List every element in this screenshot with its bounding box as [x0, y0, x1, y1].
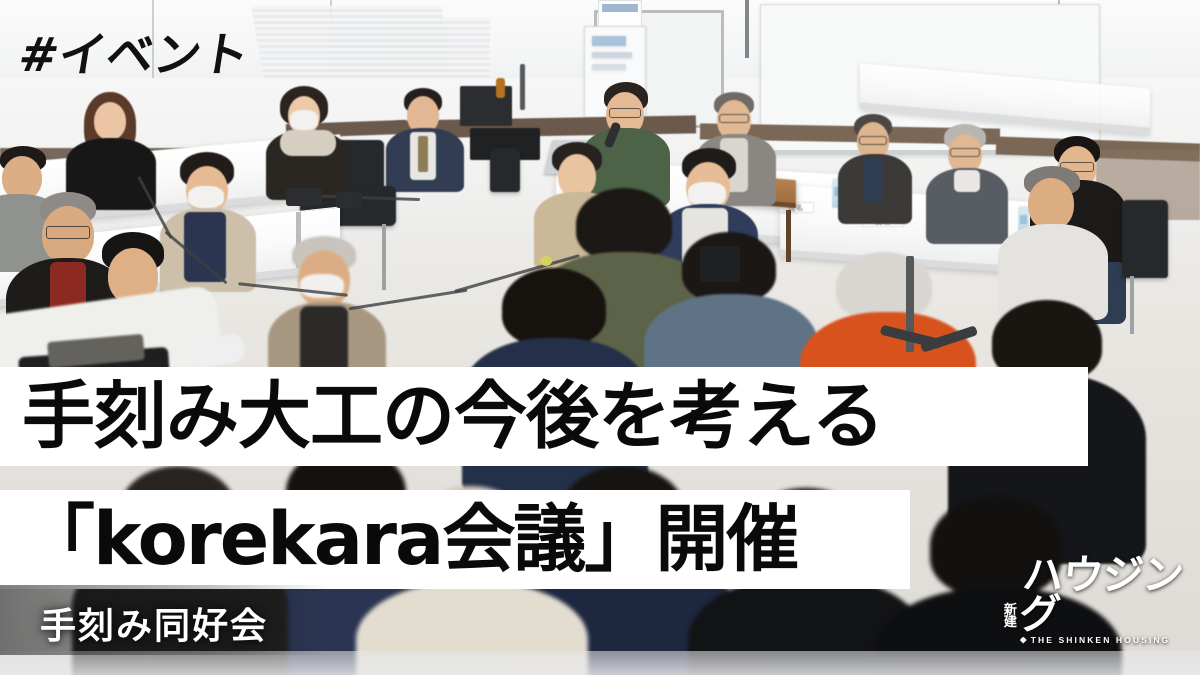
subtitle-label: 手刻み同好会 — [40, 597, 268, 649]
chair — [1122, 200, 1168, 278]
logo-kanji-block: 新 建 — [1002, 605, 1019, 634]
bottle-orange — [496, 78, 505, 98]
chair-leg — [382, 224, 386, 290]
connector — [286, 188, 322, 206]
floor-marker — [540, 256, 552, 266]
hashtag-label: #イベント — [15, 16, 256, 85]
logo-kanji-bottom: 建 — [1002, 617, 1019, 629]
publisher-logo: 新 建 ハウジング THE SHINKEN HOUSING — [1002, 586, 1188, 652]
logo-wordmark: ハウジング — [1017, 556, 1191, 634]
chair-leg — [1130, 276, 1134, 334]
ceiling-panel — [330, 18, 490, 80]
poster-band — [592, 36, 626, 46]
headline-line-2: 「korekara会議」開催 — [22, 503, 797, 576]
headline-line-1: 手刻み大工の今後を考える — [22, 380, 884, 453]
event-banner: 氏名 氏名 氏名 — [0, 0, 1200, 675]
title-bar-line-2: 「korekara会議」開催 — [0, 490, 910, 589]
logo-wordmark-row: 新 建 ハウジング — [1002, 586, 1188, 634]
table-leg — [786, 210, 791, 262]
ceiling-seam — [745, 0, 749, 58]
title-bar-line-1: 手刻み大工の今後を考える — [0, 367, 1088, 466]
chair — [490, 148, 520, 192]
connector — [336, 192, 362, 208]
poster-band — [592, 64, 626, 70]
mic-stand — [520, 64, 525, 110]
speaker — [700, 246, 740, 282]
poster-band — [592, 52, 632, 58]
